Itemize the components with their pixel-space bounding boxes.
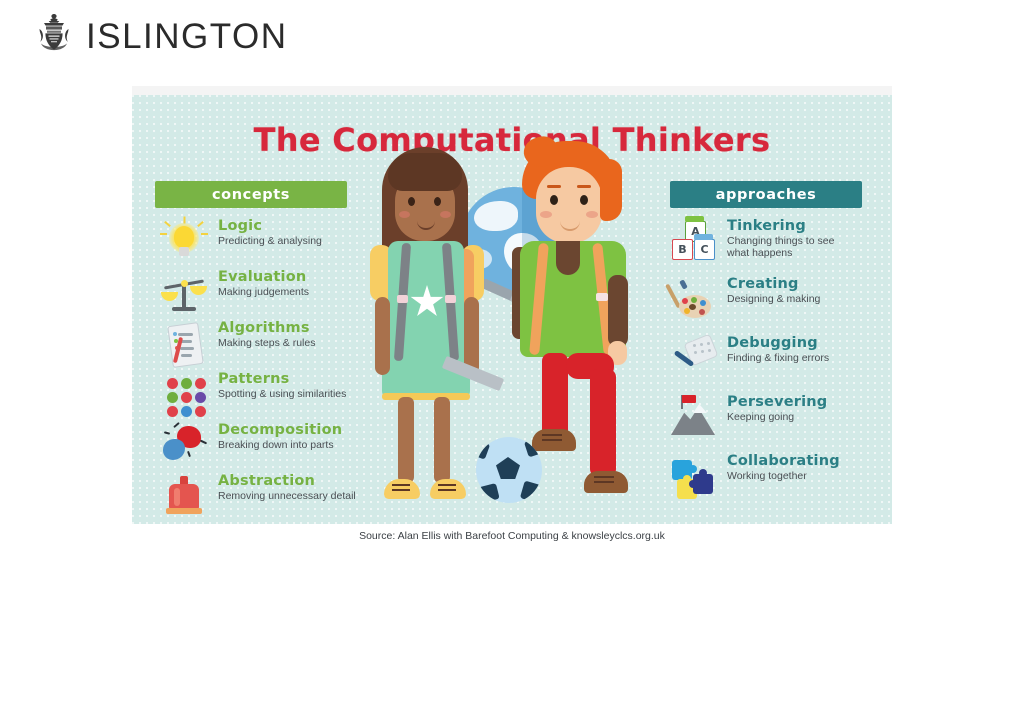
- approach-title: Collaborating: [727, 453, 892, 470]
- approach-title: Persevering: [727, 394, 892, 411]
- concepts-banner: concepts: [155, 181, 347, 208]
- concept-description: Making judgements: [218, 287, 403, 299]
- concept-item-algorithms: Algorithms Making steps & rules: [160, 321, 400, 372]
- approach-title: Debugging: [727, 335, 892, 352]
- approach-description: Designing & making: [727, 294, 892, 306]
- approaches-list: A B C Tinkering Changing things to see w…: [669, 219, 892, 505]
- brand-wordmark: ISLINGTON: [86, 19, 288, 54]
- concept-description: Spotting & using similarities: [218, 389, 403, 401]
- balance-scales-icon: [160, 270, 208, 316]
- breaking-blobs-icon: [160, 423, 208, 469]
- concept-title: Evaluation: [218, 269, 403, 286]
- approach-description: Working together: [727, 471, 892, 483]
- approach-item-debugging: Debugging Finding & fixing errors: [669, 336, 892, 395]
- mountain-flag-icon: [669, 395, 717, 441]
- infographic-image: The Computational Thinkers concepts appr…: [132, 86, 892, 524]
- paint-palette-icon: [669, 277, 717, 323]
- approaches-banner: approaches: [670, 181, 862, 208]
- concept-item-abstraction: Abstraction Removing unnecessary detail: [160, 474, 400, 524]
- approach-item-tinkering: A B C Tinkering Changing things to see w…: [669, 219, 892, 277]
- concept-title: Logic: [218, 218, 403, 235]
- approach-item-persevering: Persevering Keeping going: [669, 395, 892, 454]
- concept-description: Predicting & analysing: [218, 236, 403, 248]
- approach-description: Finding & fixing errors: [727, 353, 892, 365]
- concept-description: Removing unnecessary detail: [218, 491, 403, 503]
- concept-item-evaluation: Evaluation Making judgements: [160, 270, 400, 321]
- football-icon: [476, 437, 542, 503]
- islington-crest-icon: [32, 12, 76, 60]
- lightbulb-icon: [160, 219, 208, 265]
- concept-description: Making steps & rules: [218, 338, 403, 350]
- concept-title: Abstraction: [218, 473, 403, 490]
- concept-item-patterns: Patterns Spotting & using similarities: [160, 372, 400, 423]
- concept-title: Algorithms: [218, 320, 403, 337]
- brand-header: ISLINGTON: [32, 12, 288, 60]
- abc-blocks-icon: A B C: [669, 219, 717, 265]
- abstract-shape-icon: [160, 474, 208, 520]
- block-letter-b: B: [672, 239, 693, 260]
- approach-description: Keeping going: [727, 412, 892, 424]
- puzzle-pieces-icon: [669, 454, 717, 500]
- dot-grid-icon: [160, 372, 208, 418]
- concept-title: Decomposition: [218, 422, 403, 439]
- approach-item-creating: Creating Designing & making: [669, 277, 892, 336]
- concept-title: Patterns: [218, 371, 403, 388]
- two-children-illustration: [364, 139, 662, 524]
- approach-description: Changing things to see what happens: [727, 236, 847, 259]
- concept-item-logic: Logic Predicting & analysing: [160, 219, 400, 270]
- approach-item-collaborating: Collaborating Working together: [669, 454, 892, 505]
- bug-swatter-icon: [669, 336, 717, 382]
- source-caption: Source: Alan Ellis with Barefoot Computi…: [0, 530, 1024, 542]
- approach-title: Tinkering: [727, 218, 892, 235]
- concept-item-decomposition: Decomposition Breaking down into parts: [160, 423, 400, 474]
- clipboard-list-icon: [160, 321, 208, 367]
- block-letter-c: C: [694, 239, 715, 260]
- approach-title: Creating: [727, 276, 892, 293]
- concept-description: Breaking down into parts: [218, 440, 403, 452]
- concepts-list: Logic Predicting & analysing Evaluation …: [160, 219, 400, 524]
- poster-canvas: The Computational Thinkers concepts appr…: [132, 95, 892, 524]
